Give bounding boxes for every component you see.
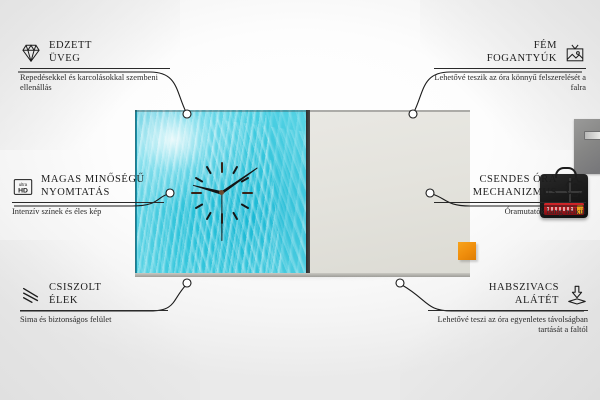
picture-hanger-icon (564, 42, 586, 64)
callout-divider (434, 68, 586, 69)
callout-description: Óramutatók hang nélkül (434, 207, 586, 217)
callout-divider (12, 202, 164, 203)
callout-description: Intenzív színek és éles kép (12, 207, 164, 217)
svg-text:HD: HD (18, 187, 28, 194)
foam-spacer-pad (458, 242, 476, 260)
callout-title: FÉM FOGANTYÚK (487, 40, 557, 65)
panel-bottom-edge (135, 273, 470, 277)
callout-foam-pad: HABSZIVACS ALÁTÉT Lehetővé teszi az óra … (428, 282, 588, 335)
callout-divider (434, 202, 586, 203)
callout-header: CSISZOLT ÉLEK (20, 282, 168, 307)
callout-header: EDZETT ÜVEG (20, 40, 170, 65)
second-hand (221, 193, 222, 241)
callout-header: FÉM FOGANTYÚK (434, 40, 586, 65)
callout-header: ultra HD MAGAS MINŐSÉGŰ NYOMTATÁS (12, 174, 164, 199)
foam-pad-arrow-icon (566, 284, 588, 306)
bracket-keyhole-slot (584, 131, 600, 140)
minute-hand (221, 166, 259, 194)
callout-title: MAGAS MINŐSÉGŰ NYOMTATÁS (41, 174, 145, 199)
callout-polished-edges: CSISZOLT ÉLEK Sima és biztonságos felüle… (20, 282, 168, 325)
polished-edges-icon (20, 284, 42, 306)
callout-description: Lehetővé teszik az óra könnyű felszerelé… (434, 73, 586, 93)
callout-header: CSENDES ÓRA MECHANIZMUS (434, 174, 586, 199)
callout-high-quality-print: ultra HD MAGAS MINŐSÉGŰ NYOMTATÁS Intenz… (12, 174, 164, 217)
callout-title: EDZETT ÜVEG (49, 40, 92, 65)
gear-icon (564, 176, 586, 198)
callout-silent-mechanism: CSENDES ÓRA MECHANIZMUS Óramutatók hang … (434, 174, 586, 217)
callout-description: Sima és biztonságos felület (20, 315, 168, 325)
callout-title: CSENDES ÓRA MECHANIZMUS (473, 174, 557, 199)
callout-title: CSISZOLT ÉLEK (49, 282, 101, 307)
product-image (135, 110, 470, 275)
svg-text:ultra: ultra (19, 182, 28, 187)
callout-description: Lehetővé teszi az óra egyenletes távolsá… (428, 315, 588, 335)
callout-metal-handles: FÉM FOGANTYÚK Lehetővé teszik az óra kön… (434, 40, 586, 93)
diamond-icon (20, 42, 42, 64)
clock-hands-hub (219, 190, 224, 195)
callout-description: Repedésekkel és karcolásokkal szembeni e… (20, 73, 170, 93)
callout-tempered-glass: EDZETT ÜVEG Repedésekkel és karcolásokka… (20, 40, 170, 93)
ultra-hd-icon: ultra HD (12, 176, 34, 198)
callout-divider (428, 310, 588, 311)
metal-hanger-bracket (574, 119, 600, 174)
callout-divider (20, 68, 170, 69)
callout-divider (20, 310, 168, 311)
panel-top-edge (135, 110, 470, 112)
callout-title: HABSZIVACS ALÁTÉT (489, 282, 559, 307)
callout-header: HABSZIVACS ALÁTÉT (428, 282, 588, 307)
infographic-canvas: EDZETT ÜVEG Repedésekkel és karcolásokka… (0, 0, 600, 400)
panel-divider-edge (306, 110, 310, 275)
